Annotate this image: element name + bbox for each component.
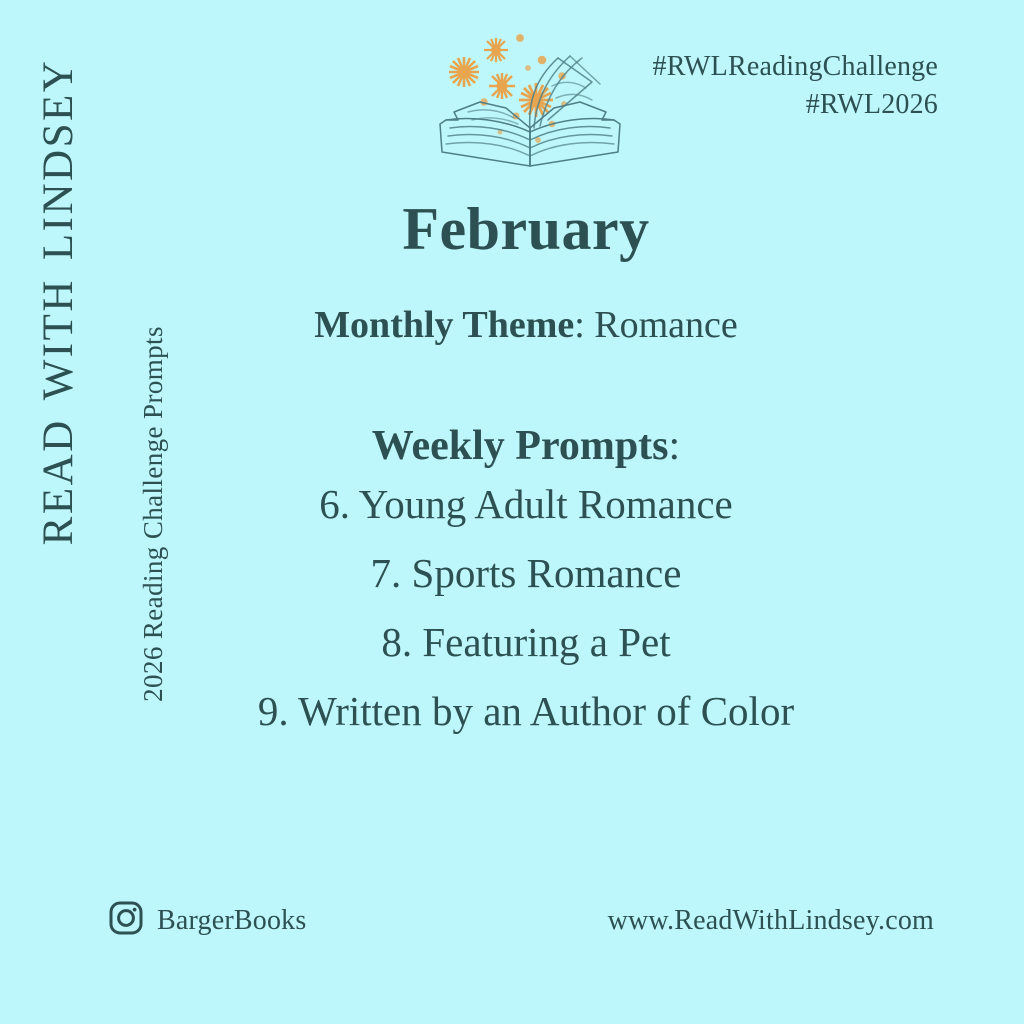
poster-canvas: #RWLReadingChallenge #RWL2026 Read With … <box>0 0 1024 1024</box>
main-content: February Monthly Theme: Romance Weekly P… <box>176 196 876 745</box>
monthly-theme-separator: : <box>574 304 594 346</box>
weekly-prompt-list: 6. Young Adult Romance 7. Sports Romance… <box>176 470 876 746</box>
open-book-with-sparkles-illustration <box>424 24 636 172</box>
list-item: 7. Sports Romance <box>176 539 876 608</box>
weekly-prompts-heading-label: Weekly Prompts <box>372 423 669 469</box>
monthly-theme-value: Romance <box>594 304 738 346</box>
brand-logo: Read With Lindsey <box>0 0 112 622</box>
brand-logo-text: Read With Lindsey <box>17 59 88 546</box>
list-item: 6. Young Adult Romance <box>176 470 876 539</box>
instagram-handle-group[interactable]: BargerBooks <box>108 900 306 941</box>
weekly-prompts-heading-colon: : <box>669 423 681 469</box>
list-item: 8. Featuring a Pet <box>176 608 876 677</box>
hashtag-challenge: #RWLReadingChallenge <box>653 48 939 86</box>
instagram-icon[interactable] <box>108 900 144 941</box>
monthly-theme: Monthly Theme: Romance <box>176 304 876 348</box>
brand-subtitle-text: 2026 Reading Challenge Prompts <box>138 326 169 702</box>
website-url[interactable]: www.ReadWithLindsey.com <box>608 905 934 937</box>
brand-subtitle: 2026 Reading Challenge Prompts <box>129 254 177 774</box>
weekly-prompts-heading: Weekly Prompts: <box>176 422 876 470</box>
monthly-theme-label: Monthly Theme <box>314 304 574 346</box>
hashtag-year: #RWL2026 <box>653 86 939 124</box>
list-item: 9. Written by an Author of Color <box>176 677 876 746</box>
page-title: February <box>176 196 876 262</box>
instagram-handle-text[interactable]: BargerBooks <box>157 905 306 937</box>
hashtag-group: #RWLReadingChallenge #RWL2026 <box>653 48 939 123</box>
